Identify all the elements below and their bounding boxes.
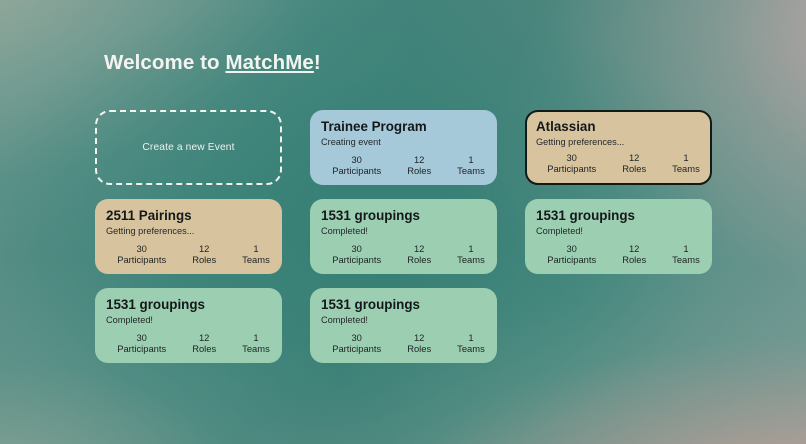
stat-roles: 12Roles xyxy=(192,332,216,355)
stat-roles: 12Roles xyxy=(407,154,431,177)
event-card-stats: 30Participants12Roles1Teams xyxy=(310,154,489,177)
event-card[interactable]: Trainee ProgramCreating event30Participa… xyxy=(310,110,497,185)
stat-roles-value: 12 xyxy=(192,332,216,343)
stat-participants: 30Participants xyxy=(332,154,381,177)
stat-teams-value: 1 xyxy=(457,154,485,165)
stat-participants: 30Participants xyxy=(547,243,596,266)
event-card-status: Completed! xyxy=(536,225,701,237)
app-root: Welcome to MatchMe! Create a new EventTr… xyxy=(0,0,806,444)
stat-roles-value: 12 xyxy=(407,243,431,254)
stat-roles-label: Roles xyxy=(407,343,431,355)
stat-teams-label: Teams xyxy=(457,254,485,266)
brand-name: MatchMe xyxy=(225,51,313,74)
stat-participants: 30Participants xyxy=(332,332,381,355)
stat-teams-value: 1 xyxy=(242,332,270,343)
stat-teams-value: 1 xyxy=(457,332,485,343)
create-new-event-label: Create a new Event xyxy=(142,142,234,153)
stat-teams-label: Teams xyxy=(457,343,485,355)
stat-teams-label: Teams xyxy=(242,254,270,266)
stat-roles-value: 12 xyxy=(622,243,646,254)
event-card-grid: Create a new EventTrainee ProgramCreatin… xyxy=(95,110,715,377)
stat-participants-label: Participants xyxy=(332,165,381,177)
stat-participants-value: 30 xyxy=(332,154,381,165)
card-row: 1531 groupingsCompleted!30Participants12… xyxy=(95,288,715,363)
stat-participants: 30Participants xyxy=(117,243,166,266)
grid-spacer xyxy=(525,288,712,363)
stat-teams: 1Teams xyxy=(457,332,485,355)
event-card-title: 1531 groupings xyxy=(321,208,486,224)
stat-participants-value: 30 xyxy=(332,243,381,254)
stat-participants-label: Participants xyxy=(547,163,596,175)
event-card-title: 1531 groupings xyxy=(106,297,271,313)
event-card[interactable]: AtlassianGetting preferences...30Partici… xyxy=(525,110,712,185)
event-card-title: Trainee Program xyxy=(321,119,486,135)
stat-teams-value: 1 xyxy=(672,243,700,254)
stat-roles-label: Roles xyxy=(192,343,216,355)
stat-roles-label: Roles xyxy=(622,163,646,175)
stat-participants-value: 30 xyxy=(547,152,596,163)
stat-participants: 30Participants xyxy=(117,332,166,355)
page-title-suffix: ! xyxy=(314,51,321,74)
stat-participants-label: Participants xyxy=(117,343,166,355)
event-card-status: Completed! xyxy=(321,314,486,326)
stat-participants-label: Participants xyxy=(547,254,596,266)
stat-roles-label: Roles xyxy=(192,254,216,266)
stat-teams: 1Teams xyxy=(672,243,700,266)
stat-participants: 30Participants xyxy=(332,243,381,266)
stat-teams: 1Teams xyxy=(672,152,700,175)
stat-teams: 1Teams xyxy=(242,332,270,355)
stat-teams-value: 1 xyxy=(457,243,485,254)
stat-roles: 12Roles xyxy=(192,243,216,266)
stat-teams-label: Teams xyxy=(672,163,700,175)
stat-teams-value: 1 xyxy=(672,152,700,163)
stat-roles-value: 12 xyxy=(407,154,431,165)
event-card-status: Completed! xyxy=(321,225,486,237)
stat-roles-label: Roles xyxy=(407,165,431,177)
event-card-stats: 30Participants12Roles1Teams xyxy=(310,243,489,266)
stat-participants-value: 30 xyxy=(117,332,166,343)
stat-participants-value: 30 xyxy=(332,332,381,343)
stat-participants-label: Participants xyxy=(332,343,381,355)
event-card-title: Atlassian xyxy=(536,119,701,135)
card-row: 2511 PairingsGetting preferences...30Par… xyxy=(95,199,715,274)
event-card[interactable]: 2511 PairingsGetting preferences...30Par… xyxy=(95,199,282,274)
stat-participants-value: 30 xyxy=(117,243,166,254)
stat-roles: 12Roles xyxy=(622,152,646,175)
stat-roles: 12Roles xyxy=(407,332,431,355)
event-card-stats: 30Participants12Roles1Teams xyxy=(95,243,274,266)
stat-teams: 1Teams xyxy=(457,154,485,177)
stat-roles: 12Roles xyxy=(407,243,431,266)
event-card[interactable]: 1531 groupingsCompleted!30Participants12… xyxy=(310,288,497,363)
stat-roles: 12Roles xyxy=(622,243,646,266)
event-card-stats: 30Participants12Roles1Teams xyxy=(527,152,702,175)
stat-teams-label: Teams xyxy=(457,165,485,177)
card-row: Create a new EventTrainee ProgramCreatin… xyxy=(95,110,715,185)
stat-teams: 1Teams xyxy=(457,243,485,266)
page-content: Welcome to MatchMe! Create a new EventTr… xyxy=(0,0,806,444)
stat-participants-label: Participants xyxy=(332,254,381,266)
event-card-title: 2511 Pairings xyxy=(106,208,271,224)
event-card-title: 1531 groupings xyxy=(536,208,701,224)
event-card[interactable]: 1531 groupingsCompleted!30Participants12… xyxy=(525,199,712,274)
event-card-status: Getting preferences... xyxy=(536,136,701,148)
stat-roles-value: 12 xyxy=(192,243,216,254)
event-card-title: 1531 groupings xyxy=(321,297,486,313)
stat-teams-label: Teams xyxy=(672,254,700,266)
stat-roles-value: 12 xyxy=(622,152,646,163)
stat-participants-label: Participants xyxy=(117,254,166,266)
stat-roles-value: 12 xyxy=(407,332,431,343)
event-card-status: Completed! xyxy=(106,314,271,326)
stat-teams-label: Teams xyxy=(242,343,270,355)
stat-participants: 30Participants xyxy=(547,152,596,175)
stat-participants-value: 30 xyxy=(547,243,596,254)
stat-teams-value: 1 xyxy=(242,243,270,254)
event-card[interactable]: 1531 groupingsCompleted!30Participants12… xyxy=(95,288,282,363)
page-title-prefix: Welcome to xyxy=(104,51,225,74)
page-title: Welcome to MatchMe! xyxy=(104,51,321,75)
event-card[interactable]: 1531 groupingsCompleted!30Participants12… xyxy=(310,199,497,274)
event-card-stats: 30Participants12Roles1Teams xyxy=(95,332,274,355)
event-card-stats: 30Participants12Roles1Teams xyxy=(525,243,704,266)
event-card-status: Getting preferences... xyxy=(106,225,271,237)
stat-teams: 1Teams xyxy=(242,243,270,266)
event-card-stats: 30Participants12Roles1Teams xyxy=(310,332,489,355)
event-card-status: Creating event xyxy=(321,136,486,148)
stat-roles-label: Roles xyxy=(622,254,646,266)
create-new-event-card[interactable]: Create a new Event xyxy=(95,110,282,185)
stat-roles-label: Roles xyxy=(407,254,431,266)
